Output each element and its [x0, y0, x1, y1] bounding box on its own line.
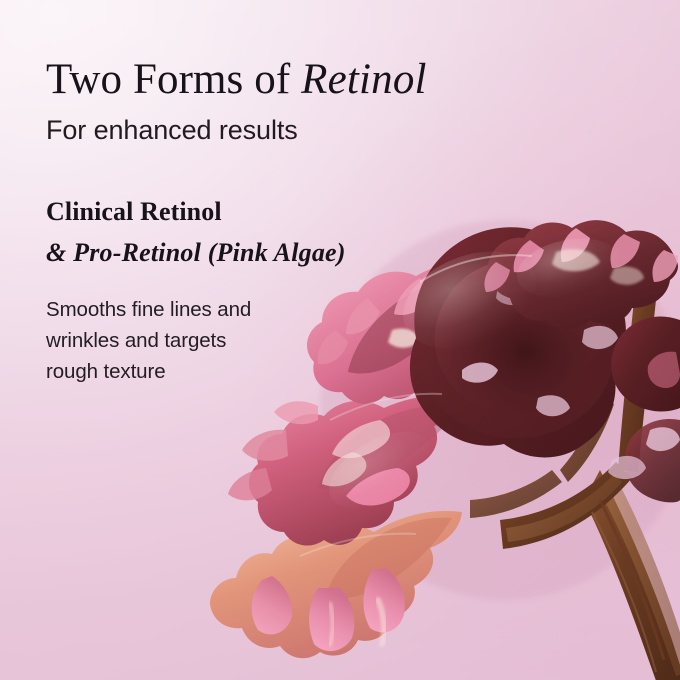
product-ingredient-card: Two Forms of Retinol For enhanced result…: [0, 0, 680, 680]
subtitle: For enhanced results: [46, 115, 298, 146]
page-title: Two Forms of Retinol: [46, 57, 427, 102]
benefit-line-2: wrinkles and targets: [46, 325, 346, 356]
headline-lead: Two Forms of: [46, 56, 301, 103]
ingredient-primary: Clinical Retinol: [46, 197, 222, 227]
text-content: Two Forms of Retinol For enhanced result…: [0, 0, 680, 680]
ingredient-secondary: & Pro-Retinol (Pink Algae): [46, 238, 346, 268]
headline-emphasis: Retinol: [301, 56, 427, 103]
benefit-description: Smooths fine lines and wrinkles and targ…: [46, 294, 346, 387]
benefit-line-3: rough texture: [46, 356, 346, 387]
benefit-line-1: Smooths fine lines and: [46, 294, 346, 325]
